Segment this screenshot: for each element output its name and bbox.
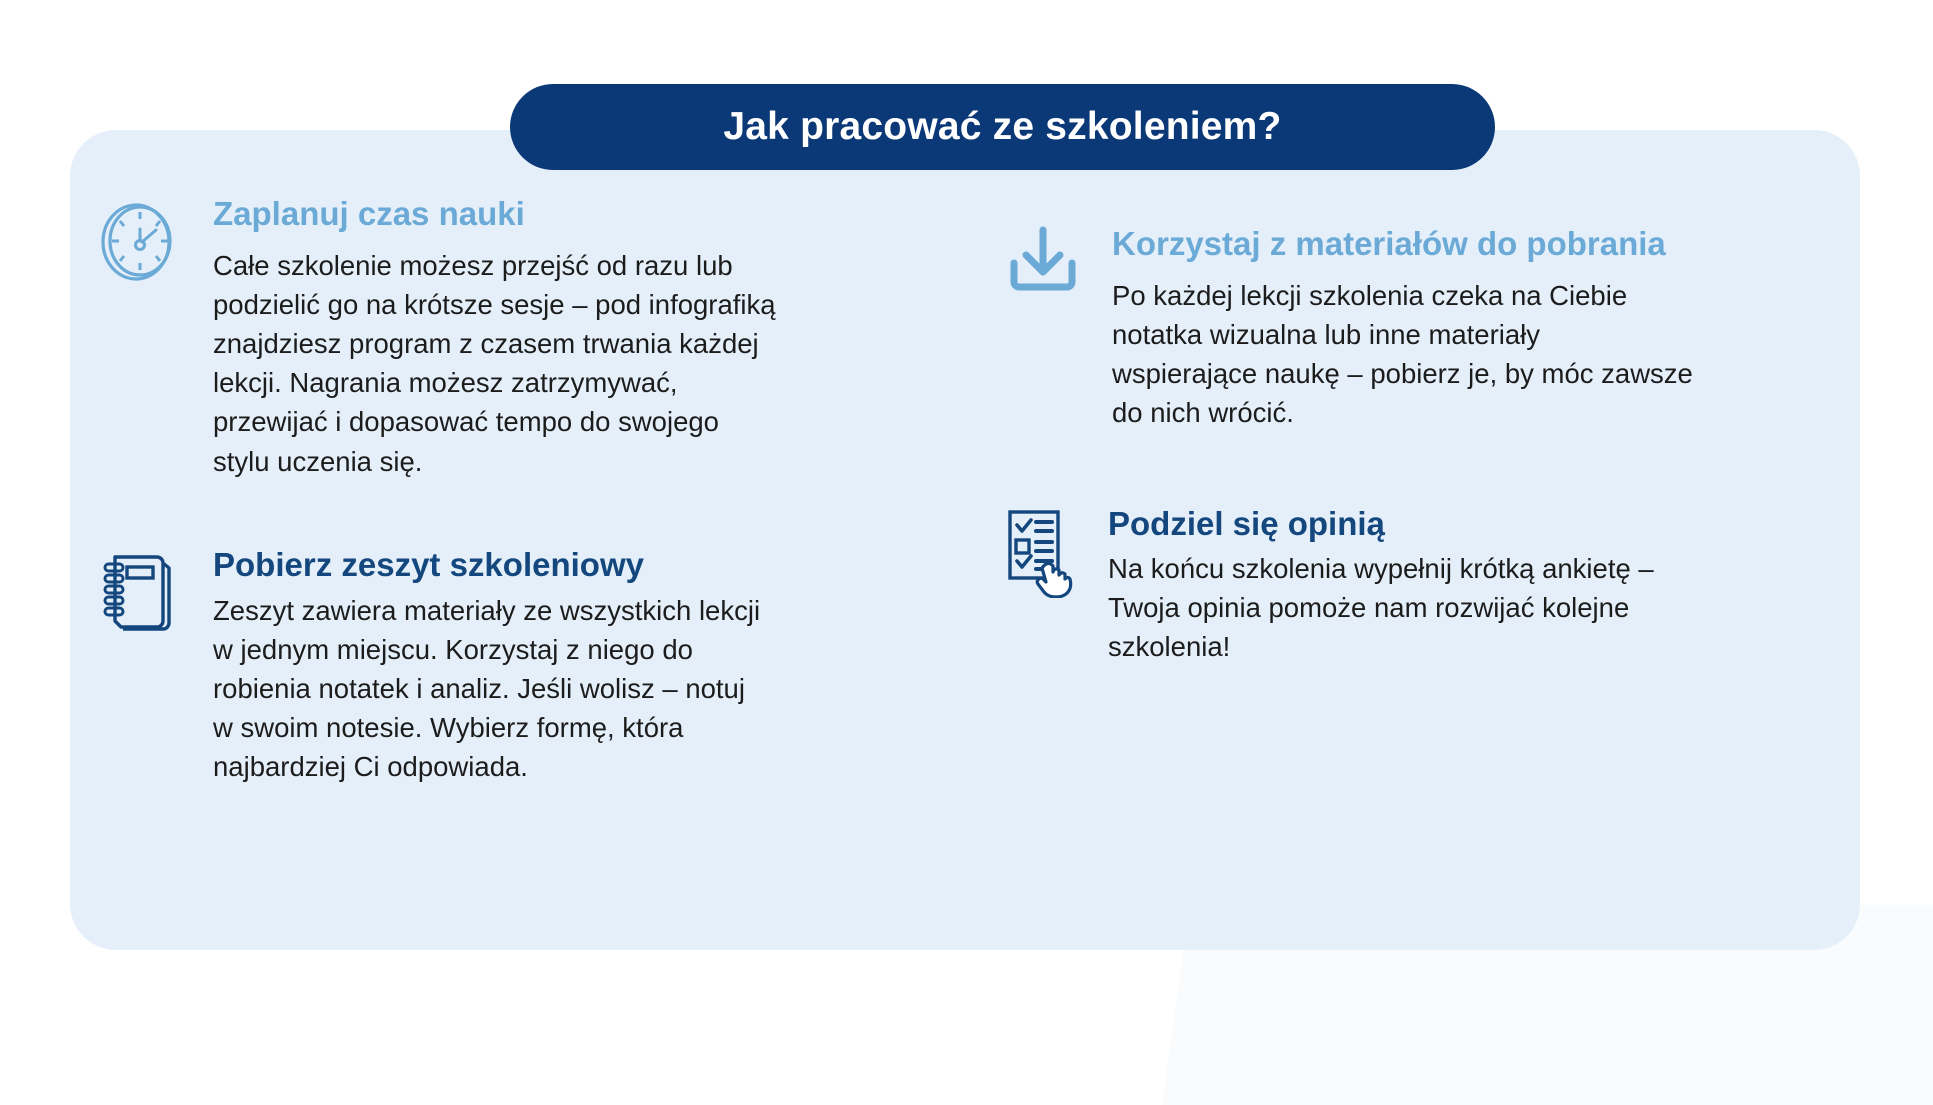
section-plan: Zaplanuj czas nauki Całe szkolenie możes… [95, 196, 895, 481]
survey-checklist-hand-icon [1000, 506, 1086, 602]
clock-icon [95, 196, 181, 292]
section-materials-text: Po każdej lekcji szkolenia czeka na Cieb… [1112, 276, 1820, 432]
section-feedback-body: Podziel się opinią Na końcu szkolenia wy… [1108, 506, 1820, 665]
section-notebook: Pobierz zeszyt szkoleniowy Zeszyt zawier… [95, 547, 895, 787]
section-feedback-text: Na końcu szkolenia wypełnij krótką ankie… [1108, 549, 1820, 666]
section-plan-heading: Zaplanuj czas nauki [213, 196, 895, 232]
title-banner: Jak pracować ze szkoleniem? [510, 84, 1495, 170]
left-column: Zaplanuj czas nauki Całe szkolenie możes… [95, 196, 895, 786]
section-feedback-heading: Podziel się opinią [1108, 506, 1820, 542]
right-column: Korzystaj z materiałów do pobrania Po ka… [1000, 226, 1820, 666]
section-plan-text: Całe szkolenie możesz przejść od razu lu… [213, 246, 895, 480]
section-notebook-body: Pobierz zeszyt szkoleniowy Zeszyt zawier… [213, 547, 895, 787]
section-materials: Korzystaj z materiałów do pobrania Po ka… [1000, 226, 1820, 432]
notebook-icon [95, 547, 181, 643]
section-feedback: Podziel się opinią Na końcu szkolenia wy… [1000, 506, 1820, 665]
page-title: Jak pracować ze szkoleniem? [723, 105, 1281, 149]
section-materials-body: Korzystaj z materiałów do pobrania Po ka… [1112, 226, 1820, 432]
section-notebook-text: Zeszyt zawiera materiały ze wszystkich l… [213, 591, 895, 786]
download-icon [1000, 226, 1086, 322]
section-plan-body: Zaplanuj czas nauki Całe szkolenie możes… [213, 196, 895, 481]
section-materials-heading: Korzystaj z materiałów do pobrania [1112, 226, 1820, 262]
section-notebook-heading: Pobierz zeszyt szkoleniowy [213, 547, 895, 583]
